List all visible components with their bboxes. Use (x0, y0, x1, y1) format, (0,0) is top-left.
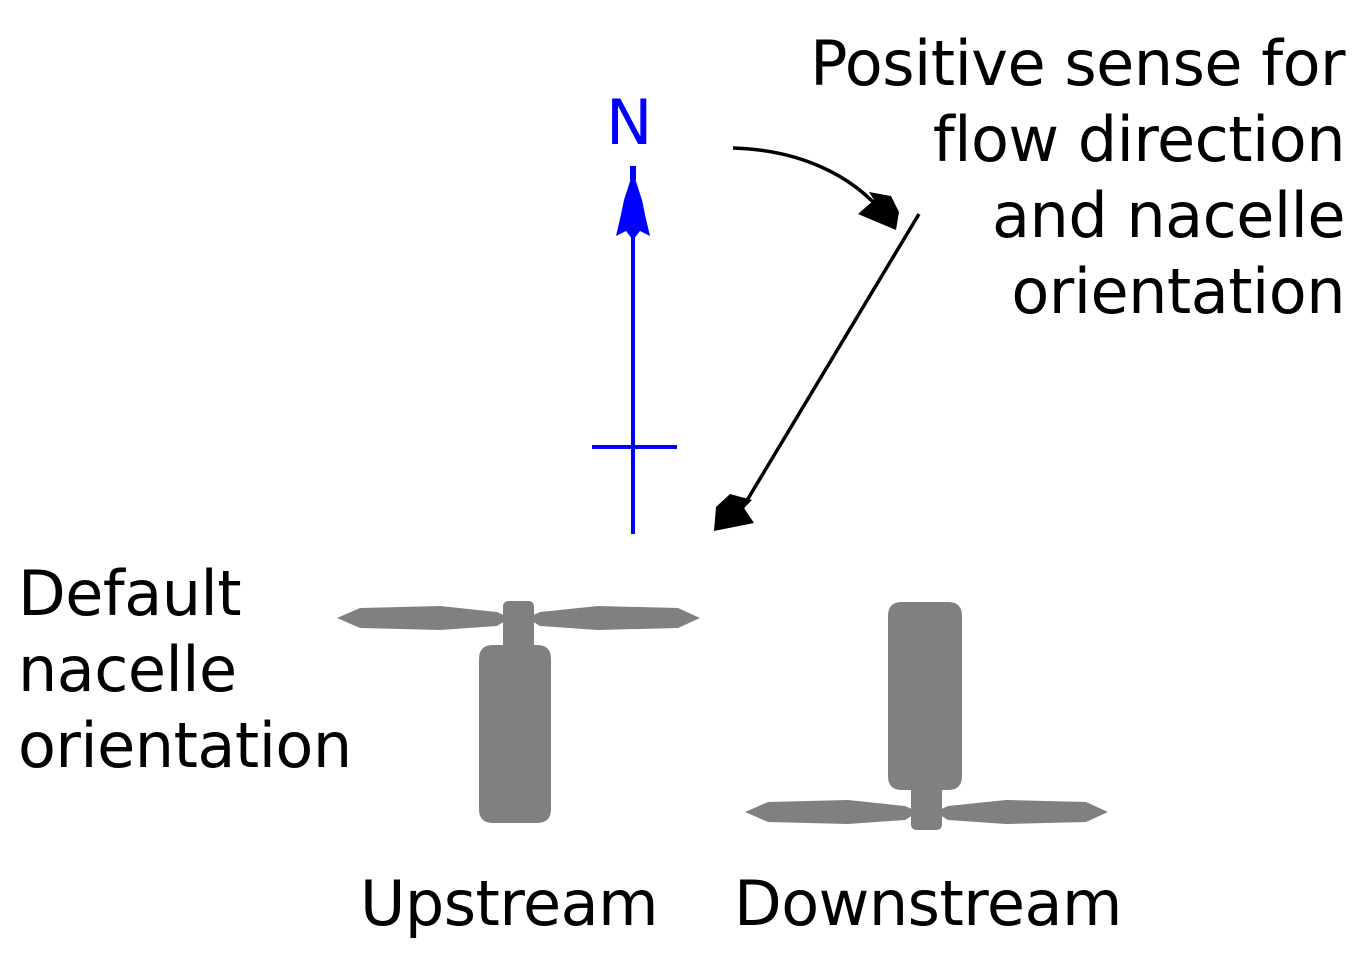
upstream-hub (503, 601, 534, 652)
wind-turbine-downstream-icon (745, 602, 1108, 830)
downstream-blade-right (935, 800, 1108, 824)
north-arrow-icon (592, 166, 677, 534)
downstream-nacelle-body (888, 602, 962, 790)
positive-sense-arrowhead (714, 494, 754, 531)
positive-sense-callout-text: Positive sense for flow direction and na… (810, 26, 1345, 330)
upstream-nacelle-body (479, 645, 551, 823)
nacelle-orientation-diagram: N Positive sense for flow direction and … (0, 0, 1371, 954)
default-nacelle-orientation-text: Default nacelle orientation (18, 556, 352, 784)
north-arrow-tip (630, 166, 636, 180)
upstream-blade-left (337, 606, 510, 630)
upstream-blade-right (527, 606, 700, 630)
north-label: N (606, 92, 652, 154)
wind-turbine-upstream-icon (337, 601, 700, 823)
downstream-hub (911, 786, 942, 830)
north-arrow-head (616, 172, 650, 240)
downstream-turbine-label: Downstream (734, 866, 1122, 942)
upstream-turbine-label: Upstream (360, 866, 658, 942)
downstream-blade-left (745, 800, 918, 824)
